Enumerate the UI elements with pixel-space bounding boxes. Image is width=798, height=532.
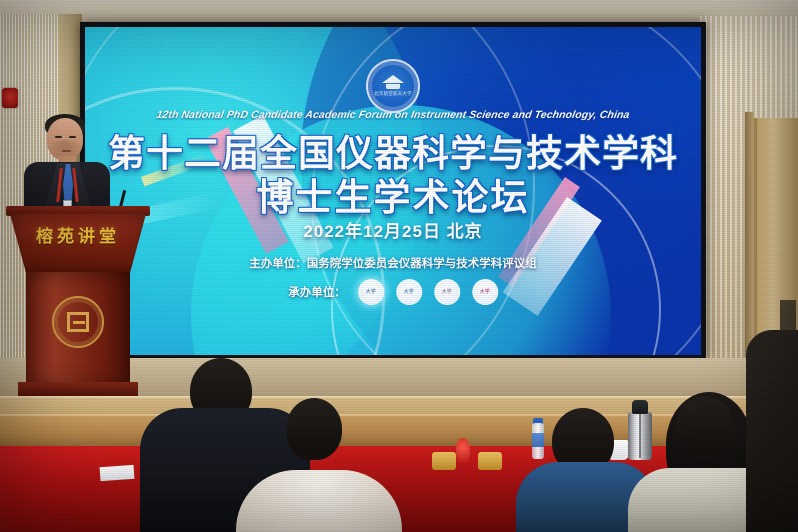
seal-glyph	[67, 312, 89, 332]
paper-sheet	[100, 465, 135, 481]
university-logo-2-icon: 大学	[396, 279, 422, 305]
thermos-flask	[628, 400, 652, 460]
institution-seal-icon	[52, 296, 104, 348]
university-logo-4-icon: 大学	[472, 279, 498, 305]
slide-coorganizer-row: 承办单位： 大学 大学 大学 大学	[288, 279, 498, 305]
table-gold-ornament-1	[432, 452, 456, 470]
university-logo-1-icon: 大学	[358, 279, 384, 305]
table-gold-ornament-2	[478, 452, 502, 470]
conference-hall-photo: 北京航空航天大学 12th National PhD Candidate Aca…	[0, 0, 798, 532]
thermos-lid	[632, 400, 648, 414]
university-logo-3-icon: 大学	[434, 279, 460, 305]
audience-right-edge-figure	[746, 330, 798, 532]
slide-host-line: 主办单位：国务院学位委员会仪器科学与技术学科评议组	[249, 255, 537, 271]
podium-sign-text: 榕苑讲堂	[10, 222, 146, 247]
speaker-eye-left	[55, 136, 62, 138]
slide-date-location: 2022年12月25日 北京	[303, 217, 482, 242]
coorganizer-label: 承办单位：	[288, 284, 346, 300]
led-screen-bezel: 北京航空航天大学 12th National PhD Candidate Aca…	[80, 22, 706, 360]
slide-text-block: 12th National PhD Candidate Academic For…	[85, 27, 701, 355]
slide-english-subtitle: 12th National PhD Candidate Academic For…	[155, 109, 630, 121]
water-bottle-label	[532, 433, 544, 447]
audience-woman-fur-collar-head	[286, 398, 342, 460]
table-decoration-knot	[456, 438, 470, 464]
audience-woman-light-coat-head	[676, 396, 734, 460]
slide-title-line2: 博士生学术论坛	[257, 167, 530, 221]
speaker-mouth	[62, 150, 71, 152]
thermos-seam	[639, 414, 641, 458]
led-screen: 北京航空航天大学 12th National PhD Candidate Aca…	[85, 27, 701, 355]
speaker-face-shading	[50, 140, 80, 156]
speaker-eye-right	[69, 136, 76, 138]
wall-emblem-icon	[2, 88, 18, 108]
